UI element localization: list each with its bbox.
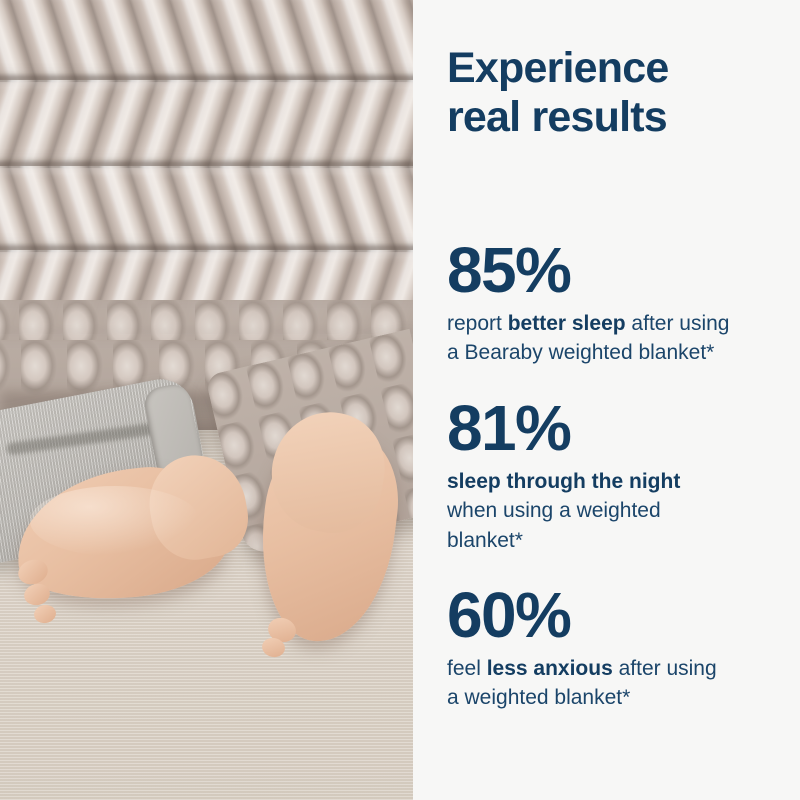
knit-row: [0, 166, 413, 252]
foot-highlight: [30, 486, 200, 556]
stat-description: feel less anxious after using a weighted…: [447, 654, 775, 713]
knit-row: [0, 0, 413, 82]
headline: Experience real results: [447, 44, 775, 142]
stat-percentage: 60%: [447, 583, 775, 647]
pants-fold: [6, 423, 156, 456]
stat-percentage: 85%: [447, 238, 775, 302]
poster: Experience real results 85% report bette…: [0, 0, 800, 800]
stat-description: report better sleep after using a Bearab…: [447, 309, 775, 368]
stat-block: 85% report better sleep after using a Be…: [447, 238, 775, 368]
text-panel: Experience real results 85% report bette…: [413, 0, 800, 800]
statistics-list: 85% report better sleep after using a Be…: [447, 238, 775, 713]
stat-description: sleep through the night when using a wei…: [447, 467, 775, 555]
stat-description-pre: report: [447, 312, 508, 335]
stat-block: 81% sleep through the night when using a…: [447, 396, 775, 555]
stat-description-post: when using a weighted blanket*: [447, 499, 661, 551]
stat-description-emphasis: better sleep: [508, 312, 626, 335]
stat-percentage: 81%: [447, 396, 775, 460]
stat-block: 60% feel less anxious after using a weig…: [447, 583, 775, 713]
stat-description-emphasis: less anxious: [487, 657, 613, 680]
stat-description-emphasis: sleep through the night: [447, 470, 680, 493]
stat-description-pre: feel: [447, 657, 487, 680]
lifestyle-photo: [0, 0, 413, 800]
knit-row: [0, 80, 413, 168]
